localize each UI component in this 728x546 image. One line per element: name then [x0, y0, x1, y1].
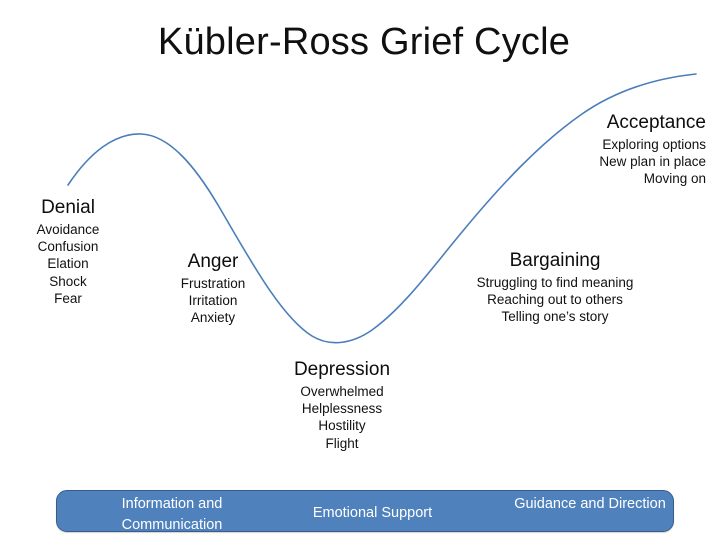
- stage-depression: Depression Overwhelmed Helplessness Host…: [272, 358, 412, 452]
- stage-anger-title: Anger: [153, 250, 273, 274]
- stage-acceptance-item: Exploring options: [505, 136, 706, 153]
- stage-depression-item: Flight: [272, 435, 412, 452]
- stage-anger-item: Irritation: [153, 292, 273, 309]
- stage-denial-item: Avoidance: [8, 221, 128, 238]
- page-title: Kübler-Ross Grief Cycle: [0, 22, 728, 64]
- stage-anger: Anger Frustration Irritation Anxiety: [153, 250, 273, 327]
- stage-denial-title: Denial: [8, 196, 128, 220]
- stage-denial-item: Fear: [8, 290, 128, 307]
- support-label-information-communication: Information and Communication: [87, 494, 257, 536]
- stage-denial-item: Elation: [8, 255, 128, 272]
- stage-anger-items: Frustration Irritation Anxiety: [153, 275, 273, 327]
- stage-acceptance: Acceptance Exploring options New plan in…: [505, 111, 706, 188]
- support-label-guidance-direction: Guidance and Direction: [510, 494, 670, 515]
- stage-depression-title: Depression: [272, 358, 412, 382]
- stage-bargaining-item: Reaching out to others: [455, 291, 655, 308]
- slide-canvas: Kübler-Ross Grief Cycle Denial Avoidance…: [0, 0, 728, 546]
- stage-acceptance-items: Exploring options New plan in place Movi…: [505, 136, 706, 188]
- stage-acceptance-item: New plan in place: [505, 153, 706, 170]
- stage-bargaining-title: Bargaining: [455, 249, 655, 273]
- stage-acceptance-item: Moving on: [505, 170, 706, 187]
- stage-denial: Denial Avoidance Confusion Elation Shock…: [8, 196, 128, 307]
- stage-bargaining: Bargaining Struggling to find meaning Re…: [455, 249, 655, 326]
- stage-denial-item: Confusion: [8, 238, 128, 255]
- support-label-emotional-support: Emotional Support: [285, 503, 460, 524]
- stage-acceptance-title: Acceptance: [505, 111, 706, 135]
- stage-bargaining-item: Struggling to find meaning: [455, 274, 655, 291]
- stage-denial-item: Shock: [8, 273, 128, 290]
- support-bar: Information and Communication Emotional …: [56, 490, 674, 532]
- stage-denial-items: Avoidance Confusion Elation Shock Fear: [8, 221, 128, 307]
- stage-depression-item: Hostility: [272, 417, 412, 434]
- stage-depression-items: Overwhelmed Helplessness Hostility Fligh…: [272, 383, 412, 452]
- stage-depression-item: Helplessness: [272, 400, 412, 417]
- stage-depression-item: Overwhelmed: [272, 383, 412, 400]
- stage-bargaining-items: Struggling to find meaning Reaching out …: [455, 274, 655, 326]
- stage-anger-item: Anxiety: [153, 309, 273, 326]
- stage-anger-item: Frustration: [153, 275, 273, 292]
- stage-bargaining-item: Telling one’s story: [455, 308, 655, 325]
